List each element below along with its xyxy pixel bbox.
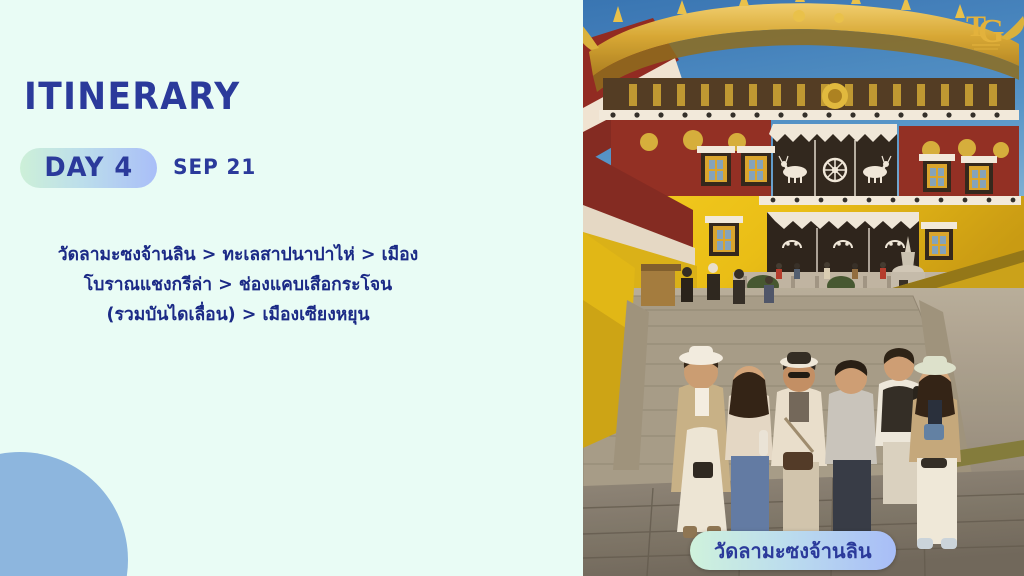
monastery-photo-illustration	[583, 0, 1024, 576]
title-block: ITINERARY	[24, 78, 544, 115]
day-row: DAY 4 SEP 21	[20, 148, 259, 188]
left-panel: ITINERARY DAY 4 SEP 21 วัดลามะซงจ้านลิน …	[0, 0, 583, 576]
route-line-1: วัดลามะซงจ้านลิน > ทะเลสาปนาปาไห่ > เมือ…	[14, 240, 462, 270]
destination-photo: T G วัดลามะซงจ้านลิน	[583, 0, 1024, 576]
decorative-circle	[0, 452, 128, 576]
route-line-2: โบราณแชงกรีล่า > ช่องแคบเสือกระโจน	[14, 270, 462, 300]
brand-logo: T G	[960, 6, 1010, 52]
day-badge: DAY 4	[20, 148, 157, 188]
photo-caption-label: วัดลามะซงจ้านลิน	[714, 541, 872, 561]
itinerary-slide: ITINERARY DAY 4 SEP 21 วัดลามะซงจ้านลิน …	[0, 0, 1024, 576]
day-badge-label: DAY 4	[44, 154, 133, 181]
route-description: วัดลามะซงจ้านลิน > ทะเลสาปนาปาไห่ > เมือ…	[14, 240, 462, 330]
page-title: ITINERARY	[24, 78, 508, 115]
photo-caption-badge: วัดลามะซงจ้านลิน	[690, 531, 896, 570]
route-line-3: (รวมบันไดเลื่อน) > เมืองเซียงหยุน	[14, 300, 462, 330]
tg-monogram-icon: T G	[960, 6, 1010, 52]
date-label: SEP 21	[174, 157, 257, 180]
